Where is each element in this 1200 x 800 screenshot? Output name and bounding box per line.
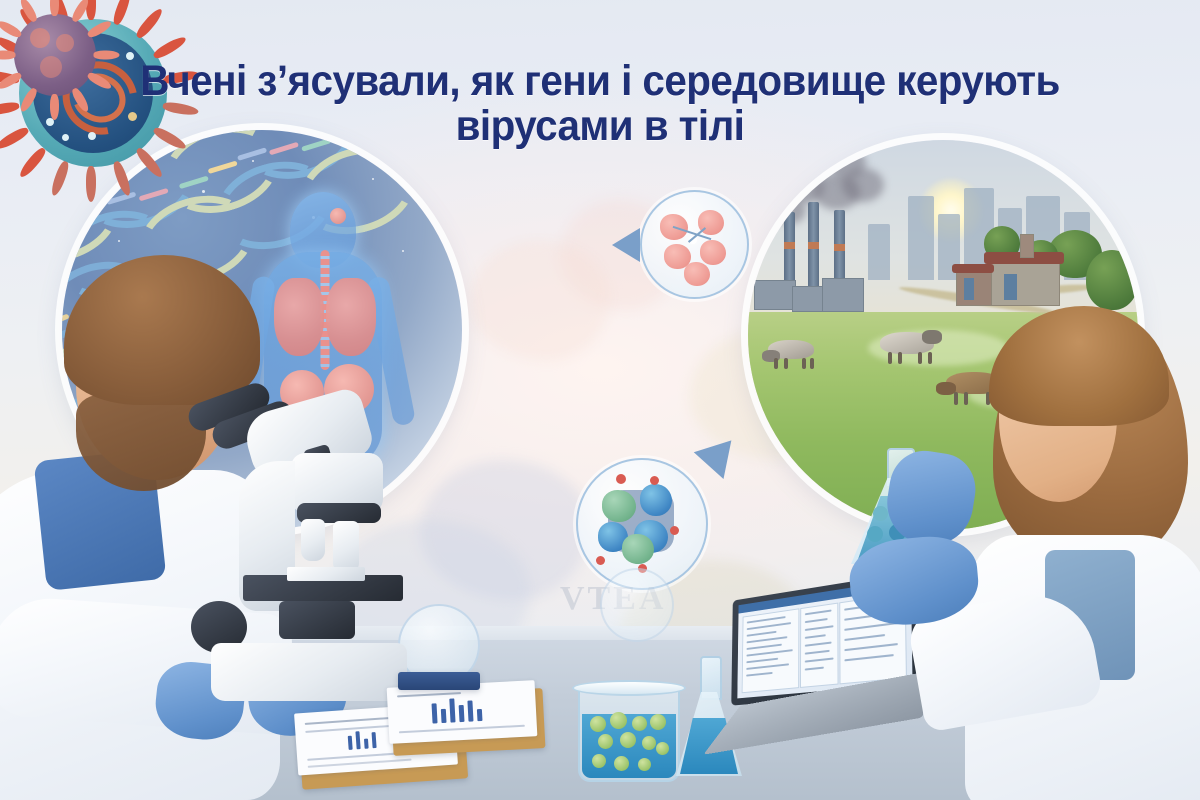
smokestack (834, 210, 845, 288)
female-scientist (975, 300, 1200, 800)
instrument-block (398, 672, 480, 690)
virus-spike (134, 6, 165, 40)
background-haze (470, 240, 610, 360)
microscope-condenser (279, 601, 355, 639)
headline-line-2: вірусами в тілі (36, 104, 1164, 149)
page-title: Вчені з’ясували, як гени і середовище ке… (36, 59, 1164, 149)
cells-callout-bubble (640, 190, 749, 299)
farm-shed-roof (952, 264, 994, 273)
skyscraper (868, 224, 890, 280)
background-haze (420, 460, 590, 600)
chimney (1020, 234, 1034, 258)
farm-door (1004, 274, 1017, 300)
hair (64, 255, 260, 405)
headline-line-1: Вчені з’ясували, як гени і середовище ке… (140, 57, 1060, 105)
smokestack (808, 202, 819, 288)
microscope-slide (287, 567, 365, 581)
factory-building (754, 280, 796, 310)
smokestack (784, 212, 795, 288)
virus-spike (50, 0, 59, 16)
screen-panel-mid[interactable] (800, 603, 839, 688)
cell-cluster-icon (684, 262, 710, 286)
microscope-icon (205, 385, 435, 715)
hair-front (989, 306, 1169, 426)
virus-spike (86, 166, 96, 202)
cow (762, 338, 824, 370)
virus-cluster-icon (602, 490, 636, 522)
microscope-base (211, 643, 407, 701)
microscope-objective (333, 521, 359, 573)
smoke-plume (842, 168, 884, 202)
petri-dish-icon (600, 568, 674, 642)
microscope-objective (301, 519, 325, 561)
screen-panel-left[interactable] (742, 608, 800, 693)
farm-door (964, 278, 974, 300)
virus-cluster-icon (622, 534, 654, 564)
callout-arrow-up-right (694, 427, 746, 479)
callout-arrow-left (612, 228, 640, 262)
illustration-canvas: Вчені з’ясували, як гени і середовище ке… (0, 0, 1200, 800)
virus-spike (17, 146, 48, 180)
brain-virus-marker (330, 208, 346, 224)
virus-spike (0, 51, 16, 60)
virus-spike (0, 125, 30, 152)
beaker-icon (578, 686, 680, 782)
cow (872, 330, 942, 364)
skyscraper (908, 196, 934, 280)
virus-cluster-icon (640, 484, 672, 516)
cell-cluster-icon (700, 240, 726, 265)
beaker-rim (572, 680, 686, 696)
factory-building (822, 278, 864, 312)
